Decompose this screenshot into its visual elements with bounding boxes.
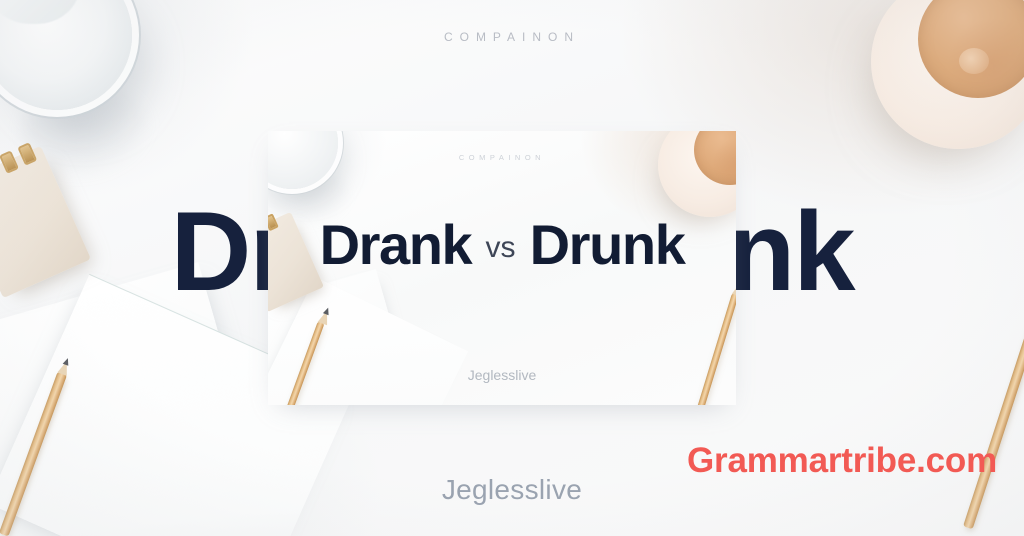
ice-cube-icon	[0, 0, 80, 24]
nested-headline-left: Drank	[320, 213, 472, 276]
outer-eyebrow-text: COMPAINON	[0, 30, 1024, 44]
nested-headline: Drank vs Drunk	[268, 217, 736, 273]
coffee-liquid	[918, 0, 1024, 98]
nested-headline-vs: vs	[485, 231, 515, 264]
watermark-text: Grammartribe.com	[687, 441, 997, 481]
nested-caption-text: Jeglesslive	[268, 367, 736, 383]
nested-eyebrow-text: COMPAINON	[268, 153, 736, 162]
image-canvas: COMPAINON DrankvsDrunk COMPAINON Drank v…	[0, 0, 1024, 536]
nested-preview-card[interactable]: COMPAINON Drank vs Drunk Jeglesslive	[268, 131, 736, 405]
nested-headline-right: Drunk	[530, 213, 685, 276]
